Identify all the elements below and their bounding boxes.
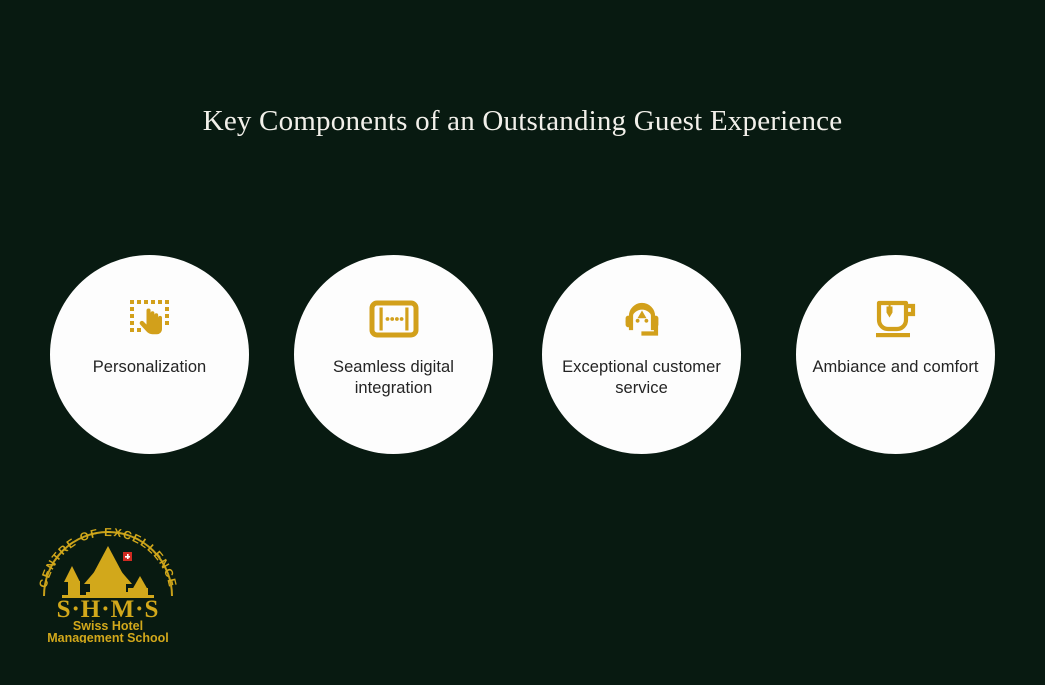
- feature-card-label: Ambiance and comfort: [808, 357, 984, 378]
- headset-support-agent-icon: [614, 295, 670, 343]
- swiss-flag-icon: [123, 552, 132, 561]
- feature-card-exceptional-customer-service[interactable]: Exceptional customer service: [542, 255, 741, 454]
- feature-card-seamless-digital-integration[interactable]: Seamless digital integration: [294, 255, 493, 454]
- page-title: Key Components of an Outstanding Guest E…: [0, 104, 1045, 139]
- feature-card-label: Exceptional customer service: [554, 357, 730, 399]
- feature-card-label: Seamless digital integration: [306, 357, 482, 399]
- feature-card-row: Personalization Seamless digital integr: [50, 255, 995, 454]
- feature-card-personalization[interactable]: Personalization: [50, 255, 249, 454]
- teacup-saucer-icon: [868, 295, 924, 343]
- feature-card-ambiance-and-comfort[interactable]: Ambiance and comfort: [796, 255, 995, 454]
- shms-logo: CENTRE OF EXCELLENCE: [28, 518, 188, 643]
- logo-wordmark-line2: Management School: [47, 631, 169, 643]
- logo-building-icon: [62, 546, 154, 598]
- feature-card-label: Personalization: [62, 357, 238, 378]
- tablet-device-icon: [366, 295, 422, 343]
- hand-pointer-icon: [122, 295, 178, 343]
- slide-canvas: Key Components of an Outstanding Guest E…: [0, 0, 1045, 685]
